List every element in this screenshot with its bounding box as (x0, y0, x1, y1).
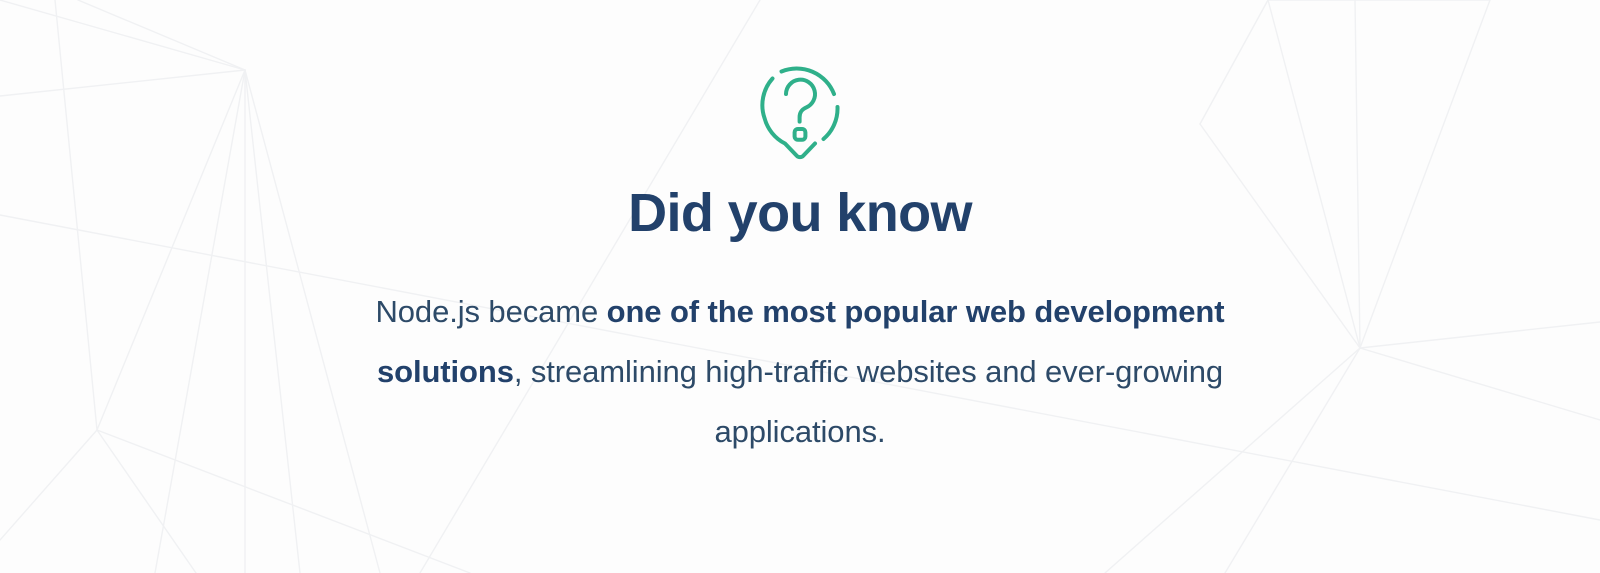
page-title: Did you know (628, 186, 972, 240)
did-you-know-banner: Did you know Node.js became one of the m… (0, 0, 1600, 573)
body-paragraph: Node.js became one of the most popular w… (360, 282, 1240, 462)
body-segment-tail: , streamlining high-traffic websites and… (514, 354, 1223, 449)
body-segment-lead: Node.js became (376, 294, 607, 329)
question-speech-bubble-icon (748, 58, 852, 160)
content-column: Did you know Node.js became one of the m… (0, 0, 1600, 573)
